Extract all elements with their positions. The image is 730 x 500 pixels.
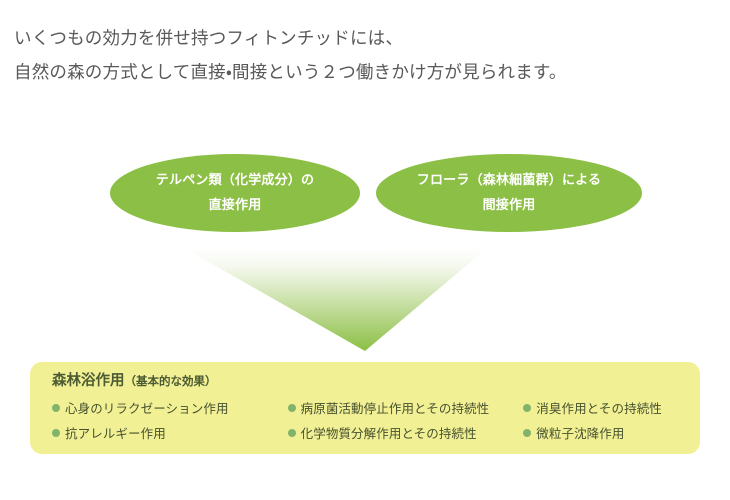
effect-label: 抗アレルギー作用 xyxy=(65,423,166,442)
node-indirect-action: フローラ（森林細菌群）による 間接作用 xyxy=(376,154,642,232)
diagram-canvas: いくつもの効力を併せ持つフィトンチッドには、 自然の森の方式として直接・間接とい… xyxy=(0,0,730,500)
list-item: 抗アレルギー作用 xyxy=(52,420,288,445)
effects-column-1: 心身のリラクゼーション作用 抗アレルギー作用 xyxy=(52,395,288,445)
bullet-icon xyxy=(52,429,60,437)
bullet-icon xyxy=(288,404,296,412)
node-direct-action: テルペン類（化学成分）の 直接作用 xyxy=(110,154,360,232)
node-direct-action-line-2: 直接作用 xyxy=(209,193,262,218)
list-item: 消臭作用とその持続性 xyxy=(523,395,700,420)
page-title: いくつもの効力を併せ持つフィトンチッドには、 自然の森の方式として直接・間接とい… xyxy=(14,22,720,90)
down-arrow-icon xyxy=(186,249,486,351)
effects-panel: 森林浴作用（基本的な効果） 心身のリラクゼーション作用 抗アレルギー作用 病原菌… xyxy=(30,362,700,454)
bullet-icon xyxy=(523,429,531,437)
lead-line-2: 自然の森の方式として直接・間接という２つ働きかけ方が見られます。 xyxy=(14,56,720,90)
effect-label: 心身のリラクゼーション作用 xyxy=(65,398,229,417)
list-item: 病原菌活動停止作用とその持続性 xyxy=(288,395,524,420)
list-item: 化学物質分解作用とその持続性 xyxy=(288,420,524,445)
lead-line-1: いくつもの効力を併せ持つフィトンチッドには、 xyxy=(14,22,720,56)
bullet-icon xyxy=(523,404,531,412)
bullet-icon xyxy=(288,429,296,437)
effects-columns: 心身のリラクゼーション作用 抗アレルギー作用 病原菌活動停止作用とその持続性 化… xyxy=(52,395,700,445)
node-direct-action-line-1: テルペン類（化学成分）の xyxy=(156,168,314,193)
effect-label: 化学物質分解作用とその持続性 xyxy=(301,423,477,442)
node-indirect-action-line-2: 間接作用 xyxy=(483,193,536,218)
node-indirect-action-line-1: フローラ（森林細菌群）による xyxy=(417,168,601,193)
effects-panel-title: 森林浴作用（基本的な効果） xyxy=(52,371,700,391)
list-item: 心身のリラクゼーション作用 xyxy=(52,395,288,420)
effects-panel-title-main: 森林浴作用 xyxy=(52,373,125,389)
effects-column-2: 病原菌活動停止作用とその持続性 化学物質分解作用とその持続性 xyxy=(288,395,524,445)
list-item: 微粒子沈降作用 xyxy=(523,420,700,445)
effects-panel-title-note: （基本的な効果） xyxy=(125,374,217,388)
effect-label: 病原菌活動停止作用とその持続性 xyxy=(301,398,490,417)
effect-label: 消臭作用とその持続性 xyxy=(536,398,662,417)
bullet-icon xyxy=(52,404,60,412)
effect-label: 微粒子沈降作用 xyxy=(536,423,624,442)
effects-column-3: 消臭作用とその持続性 微粒子沈降作用 xyxy=(523,395,700,445)
